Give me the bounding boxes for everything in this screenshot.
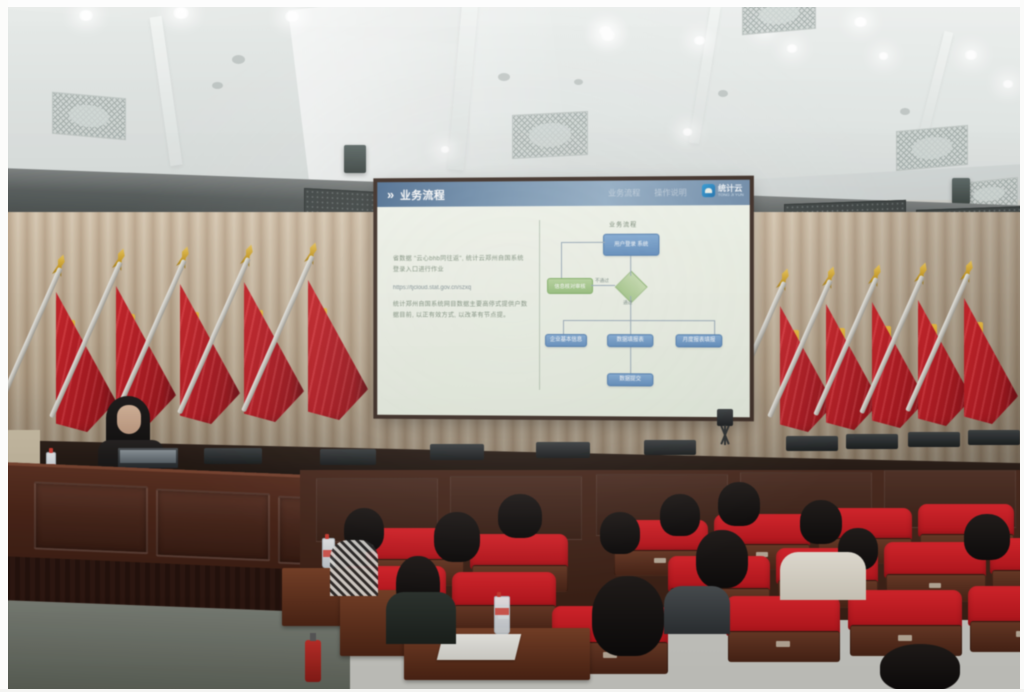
- downlight-7: [600, 30, 616, 41]
- seat-number-plate: [929, 583, 941, 588]
- seat-number-plate: [898, 635, 912, 641]
- attendee-head-4: [600, 512, 640, 554]
- ceiling-fixture-dot-5: [212, 82, 223, 89]
- downlight-14: [1002, 80, 1014, 88]
- desk-microphone-5: [644, 440, 696, 455]
- flow-node-n2: 信息核对审核: [547, 278, 593, 294]
- attendee-head-11: [592, 576, 664, 656]
- attendee-head-12: [880, 644, 960, 692]
- desk-microphone-1: [204, 448, 262, 464]
- logo-subtitle: TONG JI YUN: [718, 192, 744, 196]
- podium-panel-inset-1: [34, 481, 148, 554]
- flow-edge-to-final: [630, 347, 631, 373]
- photo-frame-right: [1020, 0, 1024, 692]
- ceiling-fixture-dot-6: [900, 108, 910, 115]
- attendee-head-5: [660, 494, 700, 536]
- projection-screen: » 业务流程 业务流程 操作说明 统计云 TONG JI YUN 省数据 "云心…: [377, 180, 750, 418]
- camera-icon: [717, 409, 733, 426]
- flow-node-n6: 月度报表填报: [676, 334, 723, 347]
- slide-header: » 业务流程 业务流程 操作说明 统计云 TONG JI YUN: [377, 180, 750, 207]
- flow-edge-label-1: 通过: [623, 300, 632, 306]
- photo-frame-top: [0, 0, 1024, 7]
- desk-microphone-2: [320, 449, 376, 465]
- downlight-13: [964, 50, 978, 60]
- downlight-1: [78, 10, 94, 21]
- flow-edge-bus-c: [630, 320, 631, 334]
- camera-on-tripod: [712, 409, 738, 443]
- podium-laptop: [118, 448, 178, 468]
- attendee-head-6: [718, 482, 760, 526]
- flow-edge-n1-n3: [630, 256, 631, 276]
- downlight-8: [693, 36, 706, 45]
- attendee-head-10: [696, 530, 748, 588]
- ceiling-speaker-2: [952, 178, 970, 204]
- ceiling-fixture-dot-2: [498, 73, 510, 81]
- cloud-logo-icon: [702, 184, 715, 197]
- downlight-10: [878, 52, 889, 60]
- seat-back: [968, 586, 1024, 626]
- ceiling: [0, 0, 1024, 200]
- slide-left-column: 省数据 "云心bhb同往返", 统计云郑州自国系统登录入口进行作业 https:…: [393, 254, 529, 330]
- seat-back: [470, 534, 568, 569]
- ceiling-fixture-dot-1: [232, 55, 245, 64]
- flowchart-title: 业务流程: [609, 220, 637, 229]
- attendee-shoulders-white: [780, 552, 866, 600]
- flow-node-n5: 数据填报表: [607, 334, 653, 347]
- slide-paragraph-1: 统计郑州自国系统网目数据主要高停式提供户数据目前, 以正有效方式, 以改革有节点…: [393, 300, 529, 322]
- ceiling-fixture-dot-3: [574, 79, 583, 85]
- downlight-6: [853, 17, 868, 27]
- seat-frame: [728, 631, 839, 662]
- air-vent-4: [896, 125, 968, 171]
- flow-node-n1: 用户登录 系统: [603, 234, 659, 256]
- downlight-3: [284, 11, 300, 22]
- flow-edge-loop-h: [561, 242, 605, 243]
- attendee-shoulders-plaid: [330, 540, 378, 596]
- flow-edge-bus-r: [714, 320, 715, 334]
- desk-microphone-6: [786, 436, 838, 451]
- air-vent-1: [52, 92, 126, 140]
- slide-logo: 统计云 TONG JI YUN: [702, 184, 744, 197]
- presenter-face: [117, 405, 141, 434]
- attendee-head-9: [964, 514, 1010, 560]
- air-vent-2: [512, 111, 588, 159]
- double-chevron-right-icon: »: [387, 187, 392, 202]
- attendee-head-3: [498, 494, 542, 538]
- seat-frame: [970, 621, 1024, 652]
- flow-edge-n2-n3: [591, 285, 615, 286]
- flow-edge-bus: [563, 320, 714, 321]
- desk-microphone-7: [846, 434, 898, 449]
- slide-body: 省数据 "云心bhb同往返", 统计云郑州自国系统登录入口进行作业 https:…: [377, 205, 750, 417]
- attendee-head-7: [800, 500, 842, 544]
- downlight-9: [786, 44, 798, 53]
- podium-panel-inset-2: [156, 489, 270, 562]
- slide-paragraph-0: 省数据 "云心bhb同往返", 统计云郑州自国系统登录入口进行作业: [393, 254, 529, 276]
- flow-node-n7: 数据提交: [607, 373, 653, 386]
- desk-water-bottle-2: [494, 596, 510, 634]
- downlight-12: [682, 128, 693, 136]
- seat-r3-2: [726, 596, 840, 660]
- desk-microphone-8: [908, 432, 960, 447]
- flowchart: 业务流程 用户登录 系统 信息核对审核 不通过 通过: [551, 215, 743, 407]
- seat-r3-4: [968, 586, 1024, 650]
- attendee-shoulders-dark: [386, 592, 456, 644]
- photo-frame-left: [0, 0, 8, 692]
- flow-edge-bus-l: [563, 320, 564, 334]
- slide-link: https://tjcloud.stat.gov.cn/szxq: [393, 285, 529, 291]
- desk-microphone-4: [536, 442, 590, 458]
- logo-text: 统计云 TONG JI YUN: [718, 184, 744, 196]
- attendee-shoulders-grey: [664, 586, 730, 634]
- ceiling-fixture-dot-4: [718, 90, 728, 97]
- flow-node-n4: 企业基本信息: [545, 334, 587, 347]
- slide-divider: [539, 220, 540, 390]
- ceiling-speaker-1: [344, 145, 366, 173]
- downlight-11: [440, 146, 450, 153]
- slide-nav-item-1: 操作说明: [654, 187, 686, 198]
- flow-edge-label-0: 不通过: [595, 278, 609, 284]
- flow-node-n3: [615, 271, 648, 304]
- conference-hall-photograph: » 业务流程 业务流程 操作说明 统计云 TONG JI YUN 省数据 "云心…: [0, 0, 1024, 692]
- slide-title: 业务流程: [400, 186, 445, 202]
- seat-back: [726, 596, 840, 636]
- seat-number-plate: [654, 558, 666, 563]
- slide-nav: 业务流程 操作说明: [608, 187, 687, 199]
- downlight-2: [172, 7, 190, 19]
- slide-nav-item-0: 业务流程: [608, 187, 640, 198]
- desk-microphone-9: [968, 430, 1020, 445]
- attendee-head-2: [434, 512, 480, 562]
- fire-extinguisher-icon: [305, 640, 321, 682]
- desk-microphone-3: [430, 444, 484, 460]
- seat-number-plate: [776, 641, 790, 647]
